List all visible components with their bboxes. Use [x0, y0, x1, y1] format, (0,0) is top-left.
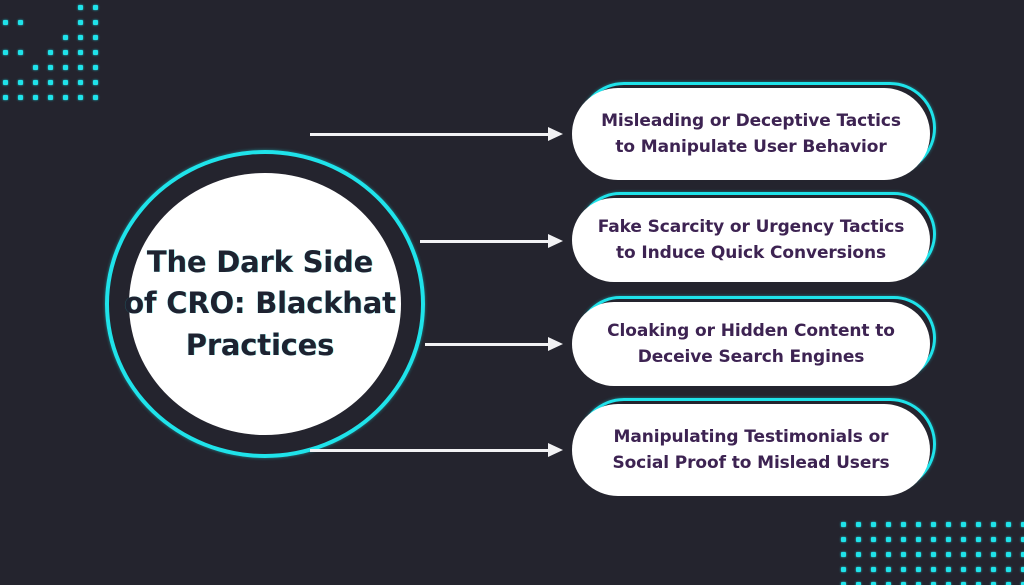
- decorative-dot: [976, 552, 981, 557]
- decorative-dot: [93, 5, 98, 10]
- decorative-dot: [901, 522, 906, 527]
- decorative-dot: [946, 552, 951, 557]
- arrow-to-item-4: [310, 443, 563, 457]
- central-title-line-3: Practices: [186, 328, 334, 362]
- decorative-dot: [916, 537, 921, 542]
- decorative-dot: [916, 552, 921, 557]
- arrow-head-icon: [548, 234, 563, 248]
- decorative-dot: [93, 65, 98, 70]
- decorative-dot: [916, 567, 921, 572]
- decorative-dot: [78, 20, 83, 25]
- decorative-dot: [93, 95, 98, 100]
- decorative-dot: [3, 20, 8, 25]
- decorative-dot: [1006, 552, 1011, 557]
- decorative-dot: [1006, 537, 1011, 542]
- central-circle: The Dark Side of CRO: Blackhat Practices: [105, 150, 425, 458]
- decorative-dot: [63, 50, 68, 55]
- decorative-dot: [961, 537, 966, 542]
- decorative-dot: [63, 35, 68, 40]
- arrow-to-item-1: [310, 127, 563, 141]
- decorative-dot: [991, 537, 996, 542]
- decorative-dot: [48, 50, 53, 55]
- decorative-dot: [856, 522, 861, 527]
- item-pill-4[interactable]: Manipulating Testimonials or Social Proo…: [572, 404, 930, 496]
- decorative-dot: [841, 522, 846, 527]
- pill-body: Misleading or Deceptive Tactics to Manip…: [572, 88, 930, 180]
- decorative-dot: [18, 50, 23, 55]
- decorative-dot: [856, 567, 861, 572]
- decorative-dot: [78, 35, 83, 40]
- item-label-1: Misleading or Deceptive Tactics to Manip…: [572, 108, 930, 161]
- decorative-dot: [856, 552, 861, 557]
- decorative-dot: [48, 80, 53, 85]
- decorative-dot: [48, 95, 53, 100]
- decorative-dot: [33, 80, 38, 85]
- decorative-dot: [93, 35, 98, 40]
- decorative-dot: [33, 65, 38, 70]
- decorative-dot: [841, 537, 846, 542]
- item-label-3: Cloaking or Hidden Content to Deceive Se…: [572, 318, 930, 371]
- arrow-head-icon: [548, 443, 563, 457]
- decorative-dot: [901, 537, 906, 542]
- decorative-dot: [78, 95, 83, 100]
- decorative-dot: [901, 567, 906, 572]
- decorative-dot: [901, 552, 906, 557]
- decorative-dot: [871, 567, 876, 572]
- decorative-dot: [961, 552, 966, 557]
- decorative-dot: [946, 567, 951, 572]
- decorative-dot: [931, 522, 936, 527]
- decorative-dot: [841, 552, 846, 557]
- decorative-dot: [976, 537, 981, 542]
- decorative-dot: [3, 95, 8, 100]
- decorative-dot: [93, 50, 98, 55]
- decorative-dot: [871, 522, 876, 527]
- decorative-dot: [931, 552, 936, 557]
- decorative-dot: [78, 50, 83, 55]
- decorative-dot: [33, 95, 38, 100]
- decorative-dot: [946, 522, 951, 527]
- item-label-4: Manipulating Testimonials or Social Proo…: [572, 424, 930, 477]
- decorative-dot: [931, 567, 936, 572]
- item-label-2: Fake Scarcity or Urgency Tactics to Indu…: [572, 214, 930, 267]
- infographic-canvas: The Dark Side of CRO: Blackhat Practices…: [0, 0, 1024, 585]
- decorative-dot: [871, 552, 876, 557]
- item-pill-2[interactable]: Fake Scarcity or Urgency Tactics to Indu…: [572, 198, 930, 282]
- arrow-to-item-3: [425, 337, 563, 351]
- decorative-dot: [3, 80, 8, 85]
- decorative-dot: [841, 567, 846, 572]
- decorative-dot: [93, 20, 98, 25]
- central-title-line-2: of CRO: Blackhat: [124, 286, 396, 320]
- pill-body: Fake Scarcity or Urgency Tactics to Indu…: [572, 198, 930, 282]
- decorative-dot: [63, 95, 68, 100]
- pill-body: Manipulating Testimonials or Social Proo…: [572, 404, 930, 496]
- decorative-dot: [18, 80, 23, 85]
- decorative-dot: [3, 50, 8, 55]
- decorative-dot: [871, 537, 876, 542]
- decorative-dot: [1006, 522, 1011, 527]
- pill-body: Cloaking or Hidden Content to Deceive Se…: [572, 302, 930, 386]
- central-circle-title: The Dark Side of CRO: Blackhat Practices: [119, 242, 401, 366]
- decorative-dot: [916, 522, 921, 527]
- central-circle-inner: The Dark Side of CRO: Blackhat Practices: [129, 173, 401, 435]
- decorative-dot: [78, 5, 83, 10]
- decorative-dot: [63, 80, 68, 85]
- decorative-dot: [886, 552, 891, 557]
- decorative-dot: [856, 537, 861, 542]
- decorative-dot: [18, 20, 23, 25]
- decorative-dot: [976, 567, 981, 572]
- decorative-dot: [48, 65, 53, 70]
- decorative-dot: [946, 537, 951, 542]
- decorative-dot: [961, 522, 966, 527]
- arrow-line: [310, 449, 549, 452]
- decorative-dot: [991, 567, 996, 572]
- decorative-dot: [1006, 567, 1011, 572]
- item-pill-1[interactable]: Misleading or Deceptive Tactics to Manip…: [572, 88, 930, 180]
- arrow-line: [310, 133, 549, 136]
- decorative-dot: [991, 552, 996, 557]
- central-title-line-1: The Dark Side: [147, 245, 373, 279]
- decorative-dot: [78, 80, 83, 85]
- arrow-line: [420, 240, 549, 243]
- decorative-dot: [18, 95, 23, 100]
- decorative-dot: [886, 537, 891, 542]
- decorative-dot: [78, 65, 83, 70]
- decorative-dot: [886, 567, 891, 572]
- arrow-to-item-2: [420, 234, 563, 248]
- item-pill-3[interactable]: Cloaking or Hidden Content to Deceive Se…: [572, 302, 930, 386]
- decorative-dot: [93, 80, 98, 85]
- arrow-head-icon: [548, 337, 563, 351]
- decorative-dot: [961, 567, 966, 572]
- decorative-dot: [976, 522, 981, 527]
- decorative-dot: [886, 522, 891, 527]
- arrow-line: [425, 343, 549, 346]
- decorative-dot: [931, 537, 936, 542]
- decorative-dot: [991, 522, 996, 527]
- arrow-head-icon: [548, 127, 563, 141]
- decorative-dot: [63, 65, 68, 70]
